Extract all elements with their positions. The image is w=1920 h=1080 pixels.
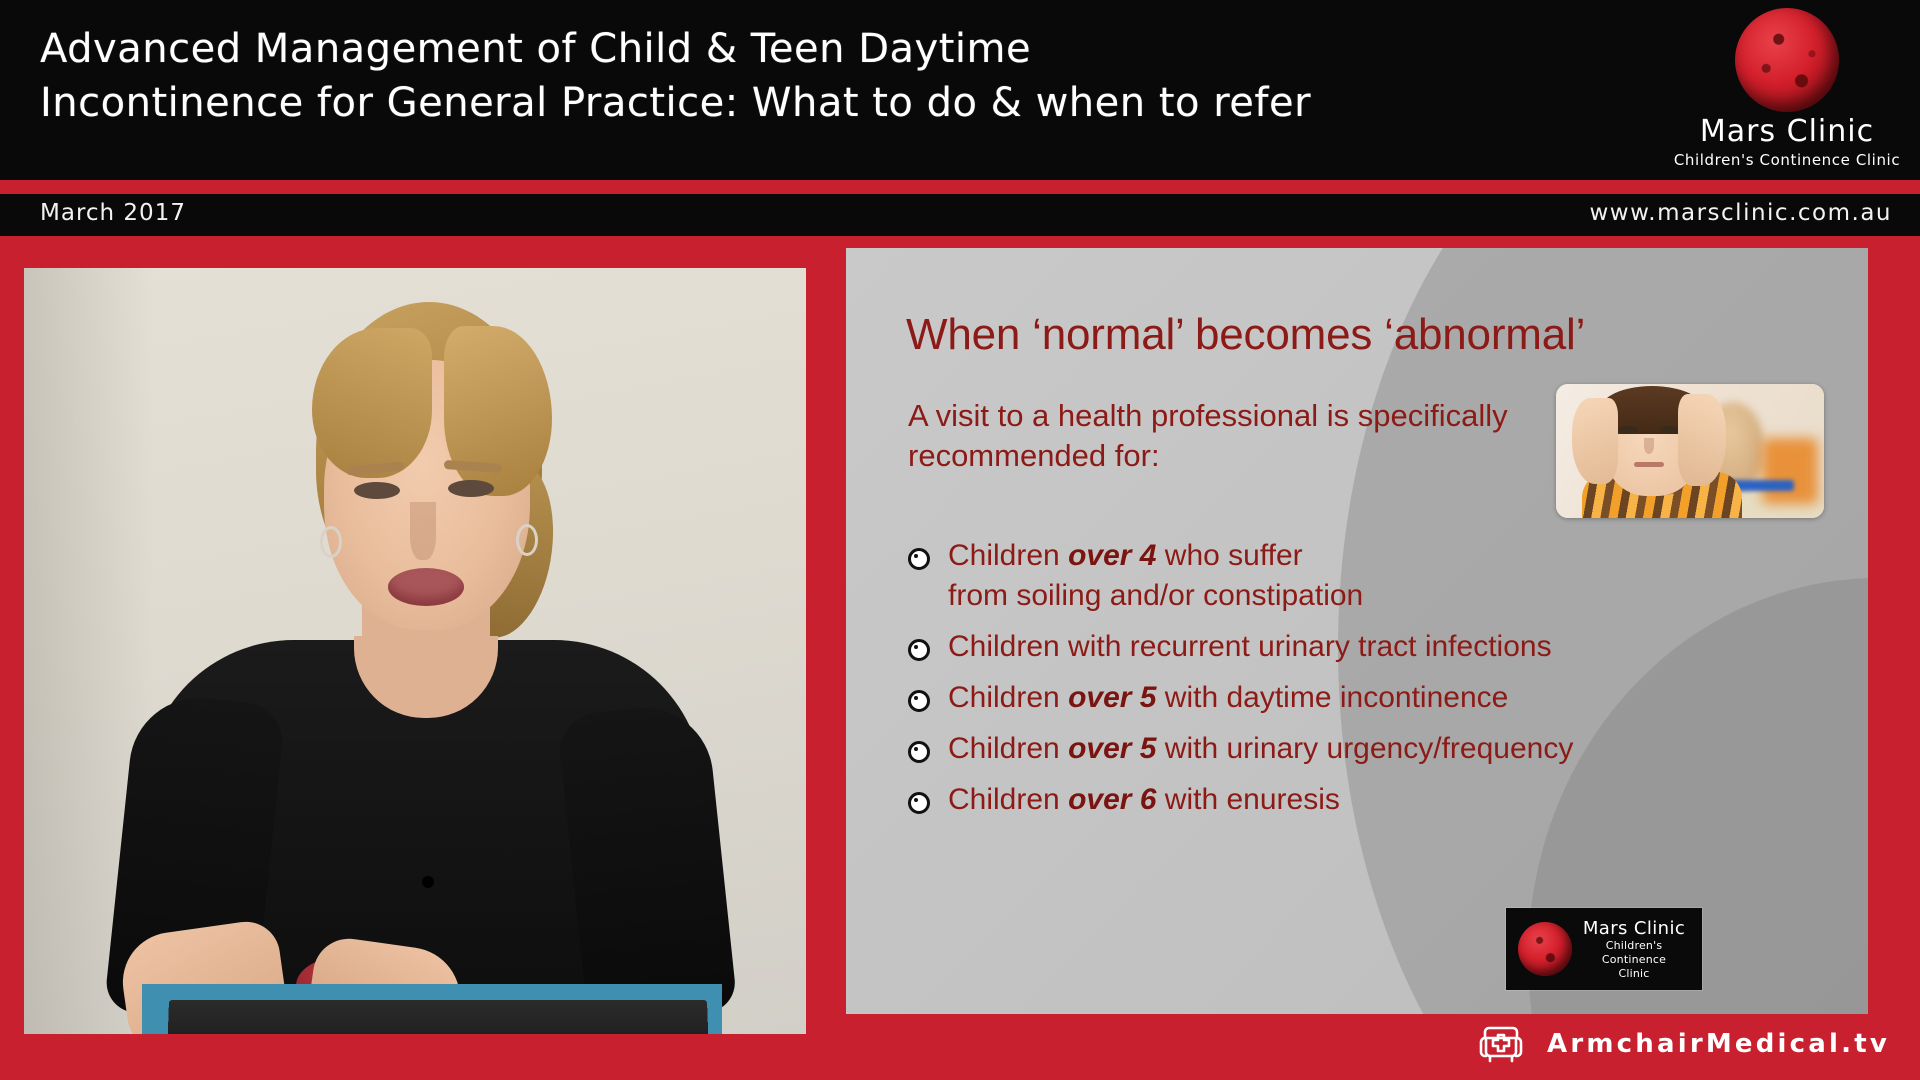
list-item-label: Children over 4 who suffer from soiling …	[948, 536, 1363, 616]
radio-dot-bullet-icon	[908, 792, 930, 814]
presentation-viewer: Advanced Management of Child & Teen Dayt…	[0, 0, 1920, 1080]
mars-clinic-name: Mars Clinic	[1672, 114, 1902, 150]
header-divider	[0, 180, 1920, 194]
radio-dot-bullet-icon	[908, 741, 930, 763]
armchair-cross-icon	[1477, 1022, 1525, 1066]
mars-clinic-logo-slide: Mars Clinic Children's Continence Clinic	[1506, 908, 1702, 990]
presentation-date: March 2017	[40, 200, 186, 226]
presenter-lapel-mic-icon	[422, 876, 434, 888]
presenter-eye-left	[354, 482, 400, 499]
radio-dot-bullet-icon	[908, 690, 930, 712]
child-photo-background-object	[1762, 438, 1818, 504]
presenter-nose	[410, 502, 436, 560]
armchair-medical-label: ArmchairMedical.tv	[1547, 1029, 1890, 1059]
list-item-emphasis: over 4	[1068, 539, 1156, 572]
mars-clinic-logo-text: Mars Clinic Children's Continence Clinic	[1572, 918, 1702, 981]
list-item-emphasis: over 6	[1068, 783, 1156, 816]
list-item-emphasis: over 5	[1068, 681, 1156, 714]
list-item: Children over 5 with urinary urgency/fre…	[908, 729, 1868, 769]
mars-clinic-tagline-small: Children's Continence Clinic	[1572, 939, 1696, 981]
presenter-mouth	[388, 568, 464, 606]
child-photo	[1556, 384, 1824, 518]
list-item-label: Children over 5 with daytime incontinenc…	[948, 678, 1508, 718]
child-photo-hand-left	[1572, 398, 1618, 484]
slide-bullet-list: Children over 4 who suffer from soiling …	[908, 536, 1868, 831]
laptop	[167, 1000, 709, 1034]
list-item-emphasis: over 5	[1068, 732, 1156, 765]
list-item: Children over 5 with daytime incontinenc…	[908, 678, 1868, 718]
slide-intro-text: A visit to a health professional is spec…	[908, 396, 1628, 476]
presenter-video-panel[interactable]	[24, 268, 806, 1034]
list-item-label: Children over 6 with enuresis	[948, 780, 1340, 820]
slide-panel[interactable]: When ‘normal’ becomes ‘abnormal’ A visit…	[846, 248, 1868, 1014]
presenter-earring-left	[320, 526, 342, 558]
mars-planet-icon-small	[1518, 922, 1572, 976]
list-item-label: Children with recurrent urinary tract in…	[948, 627, 1552, 667]
radio-dot-bullet-icon	[908, 639, 930, 661]
armchair-medical-branding[interactable]: ArmchairMedical.tv	[1477, 1022, 1890, 1066]
list-item-label: Children over 5 with urinary urgency/fre…	[948, 729, 1573, 769]
child-photo-eye-right	[1660, 426, 1680, 434]
presenter-eye-right	[448, 480, 494, 497]
presenter-earring-right	[516, 524, 538, 556]
child-photo-nose	[1644, 438, 1654, 454]
list-item: Children over 4 who suffer from soiling …	[908, 536, 1868, 616]
child-photo-mouth	[1634, 462, 1664, 467]
page-title: Advanced Management of Child & Teen Dayt…	[40, 22, 1600, 130]
slide-heading: When ‘normal’ becomes ‘abnormal’	[906, 310, 1585, 360]
mars-clinic-logo-header: Mars Clinic Children's Continence Clinic	[1672, 6, 1902, 176]
list-item: Children over 6 with enuresis	[908, 780, 1868, 820]
child-photo-eye-left	[1618, 426, 1638, 434]
child-photo-hand-right	[1678, 394, 1726, 486]
radio-dot-bullet-icon	[908, 548, 930, 570]
mars-clinic-tagline: Children's Continence Clinic	[1672, 150, 1902, 170]
mars-clinic-name-small: Mars Clinic	[1572, 918, 1696, 939]
clinic-website-url[interactable]: www.marsclinic.com.au	[1589, 200, 1892, 226]
list-item: Children with recurrent urinary tract in…	[908, 627, 1868, 667]
mars-planet-icon	[1735, 8, 1839, 112]
